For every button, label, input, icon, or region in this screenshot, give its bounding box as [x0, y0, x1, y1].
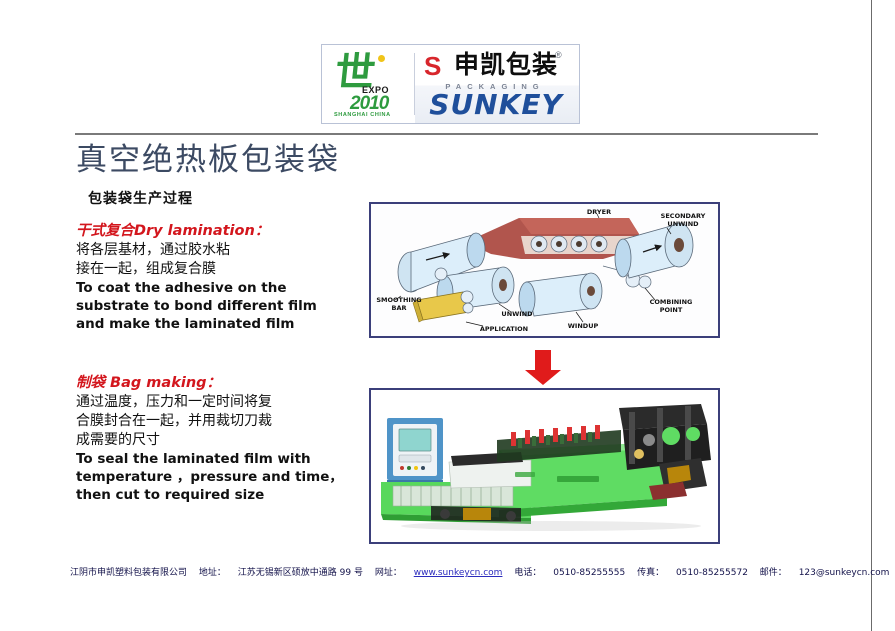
sunkey-chinese-name: 申凯包装 [454, 51, 558, 79]
bag-making-cn-line-1: 通过温度，压力和一定时间将复 [76, 393, 343, 412]
bag-machine-photo-svg [371, 390, 718, 542]
sunkey-logo: S 申凯包装 ® PACKAGING SUNKEY [415, 45, 579, 123]
footer-web-label: 网址： [375, 568, 402, 578]
footer-mail: 123@sunkeycn.com [799, 568, 890, 578]
text-block-dry-lamination: 干式复合Dry lamination： 将各层基材，通过胶水粘 接在一起，组成复… [76, 222, 317, 333]
footer-company: 江阴市申凯塑料包装有限公司 [70, 568, 187, 578]
dry-lamination-en-line-2: substrate to bond different film [76, 297, 317, 315]
registered-trademark-icon: ® [555, 50, 562, 60]
slide-canvas: 世 EXPO 2010 SHANGHAI CHINA S 申凯包装 ® PACK… [0, 0, 895, 631]
svg-text:UNWIND: UNWIND [667, 220, 699, 228]
figure-bag-making-machine [369, 388, 720, 544]
footer-address-label: 地址： [199, 568, 226, 578]
footer-tel-label: 电话： [514, 568, 541, 578]
lamination-diagram-svg: DRYER SECONDARY UNWIND SMOOTHING BAR UNW… [371, 204, 718, 336]
expo-city-label: SHANGHAI CHINA [334, 112, 391, 118]
bag-making-heading: 制袋 Bag making： [76, 374, 343, 393]
footer-tel: 0510-85255555 [553, 568, 625, 578]
svg-text:UNWIND: UNWIND [501, 310, 533, 318]
dry-lamination-cn-line-1: 将各层基材，通过胶水粘 [76, 241, 317, 260]
down-arrow-icon [521, 350, 565, 386]
bag-making-cn-line-2: 合膜封合在一起，并用裁切刀裁 [76, 412, 343, 431]
dry-lamination-en-line-1: To coat the adhesive on the [76, 279, 317, 297]
svg-text:SECONDARY: SECONDARY [661, 212, 706, 220]
title-divider-rule [75, 133, 818, 135]
dry-lamination-cn-line-2: 接在一起，组成复合膜 [76, 260, 317, 279]
svg-text:COMBINING: COMBINING [650, 298, 693, 306]
svg-text:BAR: BAR [392, 304, 407, 312]
footer-fax-label: 传真： [637, 568, 664, 578]
company-logo-band: 世 EXPO 2010 SHANGHAI CHINA S 申凯包装 ® PACK… [321, 44, 580, 124]
svg-text:DRYER: DRYER [587, 208, 611, 216]
sunkey-mark-icon: S [424, 54, 449, 79]
footer-mail-label: 邮件： [760, 568, 787, 578]
svg-text:APPLICATION: APPLICATION [480, 325, 528, 333]
footer-website-link[interactable]: www.sunkeycn.com [414, 568, 503, 578]
page-title: 真空绝热板包装袋 [76, 141, 340, 179]
svg-text:SMOOTHING: SMOOTHING [376, 296, 421, 304]
section-subtitle: 包装袋生产过程 [88, 190, 193, 208]
footer-address: 江苏无锡新区硕放中通路 99 号 [238, 568, 363, 578]
expo-dot-icon [378, 55, 385, 62]
dry-lamination-heading: 干式复合Dry lamination： [76, 222, 317, 241]
text-block-bag-making: 制袋 Bag making： 通过温度，压力和一定时间将复 合膜封合在一起，并用… [76, 374, 343, 504]
bag-making-cn-line-3: 成需要的尺寸 [76, 431, 343, 450]
bag-making-en-line-1: To seal the laminated film with [76, 450, 343, 468]
dry-lamination-en-line-3: and make the laminated film [76, 315, 317, 333]
footer-contact-bar: 江阴市申凯塑料包装有限公司 地址： 江苏无锡新区硕放中通路 99 号 网址： w… [70, 566, 860, 580]
expo-2010-logo: 世 EXPO 2010 SHANGHAI CHINA [322, 45, 414, 123]
figure-dry-lamination-diagram: DRYER SECONDARY UNWIND SMOOTHING BAR UNW… [369, 202, 720, 338]
slide-right-border [871, 0, 872, 631]
svg-text:WINDUP: WINDUP [568, 322, 599, 330]
bag-making-en-line-2: temperature ，pressure and time， [76, 468, 343, 486]
svg-text:POINT: POINT [660, 306, 683, 314]
sunkey-brand-label: SUNKEY [417, 90, 575, 120]
footer-fax: 0510-85255572 [676, 568, 748, 578]
bag-making-en-line-3: then cut to required size [76, 486, 343, 504]
